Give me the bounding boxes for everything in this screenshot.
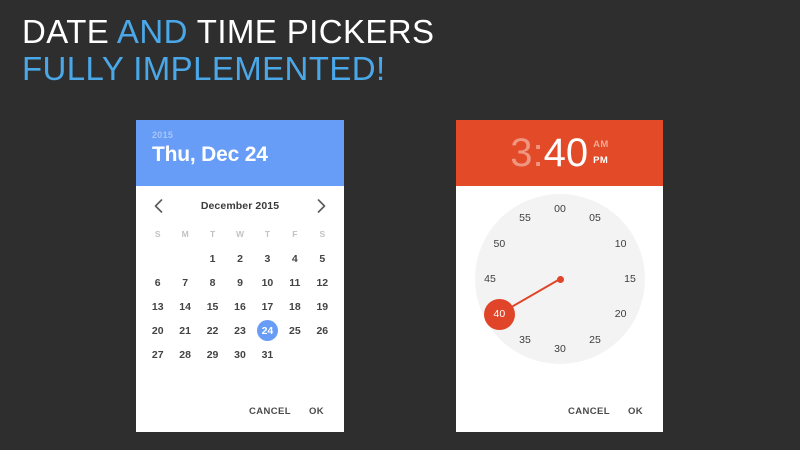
time-picker-actions: CANCEL OK [456,390,663,432]
calendar-day-label: 2 [229,248,250,269]
calendar-day-label: 9 [229,272,250,293]
weekday-header: M [171,224,198,246]
weekday-header: S [144,224,171,246]
calendar-day[interactable]: 14 [171,295,198,318]
calendar-day-label: 1 [202,248,223,269]
current-month-label: December 2015 [201,200,279,212]
calendar-day[interactable]: 9 [226,271,253,294]
calendar-day[interactable]: 1 [199,247,226,270]
date-ok-button[interactable]: OK [309,406,324,417]
calendar-day[interactable]: 7 [171,271,198,294]
calendar-day[interactable]: 21 [171,319,198,342]
calendar-day[interactable]: 15 [199,295,226,318]
headline-segment-and: AND [117,13,188,50]
am-button[interactable]: AM [593,139,609,150]
pm-button[interactable]: PM [593,155,609,166]
calendar-day-label: 5 [312,248,333,269]
calendar-day-label: 11 [284,272,305,293]
clock-number[interactable]: 10 [609,236,633,252]
clock-dial[interactable]: 00051015202530354045505540 [456,186,663,390]
calendar-day-label: 26 [312,320,333,341]
calendar-day[interactable]: 3 [254,247,281,270]
clock-center-dot [557,276,564,283]
clock-number[interactable]: 55 [513,210,537,226]
clock-number[interactable]: 35 [513,332,537,348]
calendar-day-label: 3 [257,248,278,269]
calendar-day-label: 10 [257,272,278,293]
selected-date-label[interactable]: Thu, Dec 24 [152,143,328,167]
meridiem-selector: AM PM [593,139,609,168]
minute-value[interactable]: 40 [544,133,589,173]
calendar-day-label: 29 [202,344,223,365]
calendar-day[interactable]: 25 [281,319,308,342]
calendar-grid: SMTWTFS123456789101112131415161718192021… [136,220,344,366]
calendar-day-label: 16 [229,296,250,317]
calendar-day[interactable]: 22 [199,319,226,342]
calendar-day-label: 21 [175,320,196,341]
hour-value[interactable]: 3 [510,133,532,173]
calendar-cell-empty [171,247,198,270]
calendar-day[interactable]: 12 [309,271,336,294]
calendar-day[interactable]: 4 [281,247,308,270]
time-cancel-button[interactable]: CANCEL [568,406,610,417]
calendar-day-label: 23 [229,320,250,341]
weekday-header: W [226,224,253,246]
calendar-day-label: 22 [202,320,223,341]
headline-line-2: FULLY IMPLEMENTED! [22,51,434,88]
calendar-day-label: 15 [202,296,223,317]
clock-number[interactable]: 00 [548,201,572,217]
clock-selector[interactable]: 40 [484,299,515,330]
headline-segment-time-pickers: TIME PICKERS [188,13,435,50]
date-picker-actions: CANCEL OK [136,390,344,432]
time-colon: : [533,133,544,173]
calendar-day-label: 17 [257,296,278,317]
clock-number[interactable]: 45 [478,271,502,287]
weekday-header: T [199,224,226,246]
date-cancel-button[interactable]: CANCEL [249,406,291,417]
weekday-header: T [254,224,281,246]
calendar-day-label: 25 [284,320,305,341]
calendar-day-label: 18 [284,296,305,317]
calendar-day[interactable]: 16 [226,295,253,318]
chevron-left-icon[interactable] [150,198,166,214]
date-picker-header: 2015 Thu, Dec 24 [136,120,344,186]
calendar-day-label: 27 [147,344,168,365]
calendar-day-label: 19 [312,296,333,317]
calendar-day[interactable]: 6 [144,271,171,294]
time-picker-dialog: 3 : 40 AM PM 00051015202530354045505540 … [456,120,663,432]
selected-year-label[interactable]: 2015 [152,130,328,140]
chevron-right-icon[interactable] [314,198,330,214]
calendar-day[interactable]: 10 [254,271,281,294]
calendar-day[interactable]: 27 [144,343,171,366]
calendar-day-selected[interactable]: 24 [254,319,281,342]
calendar-day[interactable]: 23 [226,319,253,342]
calendar-day-label: 4 [284,248,305,269]
calendar-day[interactable]: 31 [254,343,281,366]
weekday-header: F [281,224,308,246]
calendar-day-label: 31 [257,344,278,365]
calendar-day[interactable]: 20 [144,319,171,342]
month-navigation: December 2015 [136,186,344,220]
calendar-day-label: 7 [175,272,196,293]
clock-number[interactable]: 15 [618,271,642,287]
calendar-day[interactable]: 19 [309,295,336,318]
clock-number[interactable]: 30 [548,341,572,357]
calendar-day[interactable]: 28 [171,343,198,366]
calendar-day-label: 28 [175,344,196,365]
calendar-day[interactable]: 26 [309,319,336,342]
clock-number[interactable]: 50 [487,236,511,252]
calendar-day[interactable]: 13 [144,295,171,318]
calendar-day-label: 14 [175,296,196,317]
calendar-day[interactable]: 29 [199,343,226,366]
calendar-day[interactable]: 18 [281,295,308,318]
calendar-day-label: 13 [147,296,168,317]
calendar-day[interactable]: 5 [309,247,336,270]
clock-number[interactable]: 25 [583,332,607,348]
headline-line-1: DATE AND TIME PICKERS [22,14,434,51]
calendar-day-label: 6 [147,272,168,293]
calendar-day[interactable]: 30 [226,343,253,366]
time-display: 3 : 40 [510,133,588,173]
calendar-day-label: 12 [312,272,333,293]
calendar-day[interactable]: 17 [254,295,281,318]
time-ok-button[interactable]: OK [628,406,643,417]
clock-number[interactable]: 05 [583,210,607,226]
clock-number[interactable]: 20 [609,306,633,322]
weekday-header: S [309,224,336,246]
time-picker-header: 3 : 40 AM PM [456,120,663,186]
calendar-cell-empty [144,247,171,270]
calendar-day-label: 8 [202,272,223,293]
calendar-day-label: 20 [147,320,168,341]
calendar-day[interactable]: 8 [199,271,226,294]
calendar-day-label: 24 [257,320,278,341]
headline-segment-date: DATE [22,13,117,50]
page-title: DATE AND TIME PICKERS FULLY IMPLEMENTED! [22,14,434,88]
date-picker-dialog: 2015 Thu, Dec 24 December 2015 SMTWTFS12… [136,120,344,432]
calendar-day-label: 30 [229,344,250,365]
calendar-day[interactable]: 2 [226,247,253,270]
calendar-day[interactable]: 11 [281,271,308,294]
